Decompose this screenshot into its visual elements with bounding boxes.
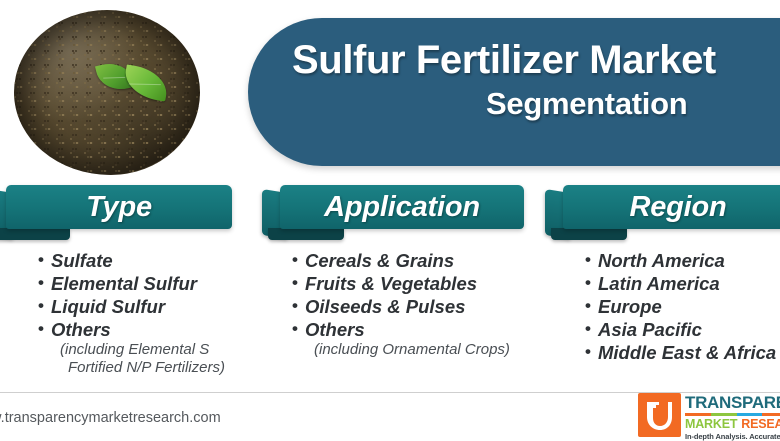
logo-word-research: RESEARCH bbox=[741, 417, 780, 431]
segment-list-type: Sulfate Elemental Sulfur Liquid Sulfur O… bbox=[0, 249, 232, 377]
list-item: Elemental Sulfur bbox=[38, 272, 232, 295]
logo-word-market: MARKET bbox=[685, 417, 737, 431]
list-item: Europe bbox=[585, 295, 780, 318]
list-note-line: (including Ornamental Crops) bbox=[292, 341, 524, 359]
page-subtitle: Segmentation bbox=[486, 86, 687, 122]
segment-column-application: Application Cereals & Grains Fruits & Ve… bbox=[262, 185, 524, 359]
logo-mark-badge bbox=[638, 393, 681, 437]
footer-website-url[interactable]: w.transparencymarketresearch.com bbox=[0, 410, 221, 426]
list-item: Fruits & Vegetables bbox=[292, 272, 524, 295]
logo-color-bars bbox=[685, 413, 780, 416]
ribbon-bottom-fold bbox=[268, 228, 344, 240]
list-item: Middle East & Africa bbox=[585, 341, 780, 364]
granule-pile-icon bbox=[14, 10, 200, 175]
segment-list-region: North America Latin America Europe Asia … bbox=[545, 249, 780, 364]
list-item: Cereals & Grains bbox=[292, 249, 524, 272]
segment-list-application: Cereals & Grains Fruits & Vegetables Oil… bbox=[262, 249, 524, 359]
column-title-region: Region bbox=[563, 185, 780, 229]
fertilizer-granule-pile-image bbox=[14, 10, 200, 178]
header-banner: Sulfur Fertilizer Market Segmentation bbox=[248, 18, 780, 166]
list-item: Sulfate bbox=[38, 249, 232, 272]
list-note-line: (including Elemental S bbox=[38, 341, 232, 359]
logo-wordmark: TRANSPARENCY MARKETRESEARCH In-depth Ana… bbox=[685, 394, 780, 441]
ribbon-header-type: Type bbox=[0, 185, 232, 229]
list-item: Liquid Sulfur bbox=[38, 295, 232, 318]
list-item: Asia Pacific bbox=[585, 318, 780, 341]
list-item: Latin America bbox=[585, 272, 780, 295]
page-title: Sulfur Fertilizer Market bbox=[292, 38, 716, 83]
ribbon-bottom-fold bbox=[0, 228, 70, 240]
leaf-vein bbox=[103, 77, 125, 79]
list-item: North America bbox=[585, 249, 780, 272]
pile-shading bbox=[14, 10, 200, 175]
ribbon-header-application: Application bbox=[262, 185, 524, 229]
transparency-market-research-logo[interactable]: TRANSPARENCY MARKETRESEARCH In-depth Ana… bbox=[638, 393, 780, 438]
leaf-vein bbox=[129, 84, 161, 86]
checkmark-v-icon bbox=[645, 399, 674, 431]
list-item: Others bbox=[292, 318, 524, 341]
logo-line-market-research: MARKETRESEARCH bbox=[685, 417, 780, 431]
segment-column-type: Type Sulfate Elemental Sulfur Liquid Sul… bbox=[0, 185, 232, 377]
ribbon-bottom-fold bbox=[551, 228, 627, 240]
list-item: Oilseeds & Pulses bbox=[292, 295, 524, 318]
column-title-application: Application bbox=[280, 185, 524, 229]
column-title-type: Type bbox=[6, 185, 232, 229]
infographic-canvas: Sulfur Fertilizer Market Segmentation Ty… bbox=[0, 0, 780, 440]
ribbon-header-region: Region bbox=[545, 185, 780, 229]
logo-line-transparency: TRANSPARENCY bbox=[685, 394, 780, 412]
segment-column-region: Region North America Latin America Europ… bbox=[545, 185, 780, 364]
list-item: Others bbox=[38, 318, 232, 341]
list-note-line: Fortified N/P Fertilizers) bbox=[38, 359, 232, 377]
